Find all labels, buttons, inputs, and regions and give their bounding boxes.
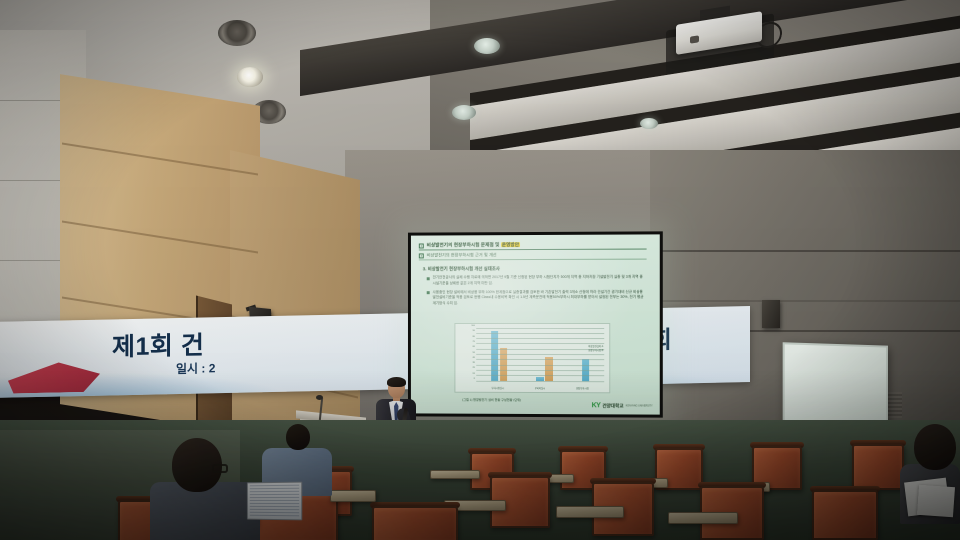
chart-gridline <box>476 338 604 339</box>
chart-x-labels: 부하시험실시부하미실시현장부하시험 <box>476 386 604 390</box>
chart-y-tick: 70 <box>472 341 474 343</box>
table-row[interactable] <box>812 490 878 540</box>
laptop-content <box>250 485 299 518</box>
chart-bar-group <box>491 328 507 381</box>
logo-name: 건양대학교 <box>602 403 623 409</box>
presenter-hair <box>387 377 406 387</box>
chart-y-tick: 90 <box>472 330 474 332</box>
table-row[interactable] <box>852 444 904 490</box>
chart-x-tick: 부하시험실시 <box>491 386 504 390</box>
lecture-hall-scene: 제1회 건 발표회 일시 : 2 미나 비상발전기의 현장부하시험 문제점 및 … <box>0 0 960 540</box>
chart-y-tick: 0 <box>474 378 475 380</box>
chart-y-tick: 50 <box>472 351 474 353</box>
chart-plot-area: 0102030405060708090100 <box>476 328 604 381</box>
wall-seam <box>650 250 960 252</box>
seat-back <box>852 444 904 490</box>
wall-seam <box>650 300 960 302</box>
handout-paper[interactable] <box>917 485 955 517</box>
ceiling-downlight <box>237 67 263 87</box>
chart-y-tick: 40 <box>472 357 474 359</box>
seat-back <box>812 490 878 540</box>
desk-tablet <box>668 512 738 524</box>
chart-legend-item: 현장부하시험 B <box>588 350 603 354</box>
slide-section-title: 3. 비상발전기 현장부하시험 개선 실태조사 <box>423 266 500 272</box>
list-item: 사용중인 현장 설비에서 비상용 부하 100% 한계점으로 실증결과를 검토한… <box>427 289 645 306</box>
desk-tablet <box>330 490 376 502</box>
projection-screen: 비상발전기의 현장부하시험 문제점 및 운영방안 비상발전기의 현장부하시험 근… <box>408 231 663 417</box>
chart-y-tick: 10 <box>472 373 474 375</box>
bullet-square-icon <box>419 243 424 248</box>
bullet-dot-icon <box>427 291 430 294</box>
slide-bar-chart: 0102030405060708090100 부하시험실시부하미실시현장부하시험… <box>454 323 610 393</box>
chart-gridline <box>476 327 604 328</box>
chart-legend: 비상발전설비 A현장부하시험 B <box>588 346 603 354</box>
attendee-head <box>286 424 310 450</box>
bullet-text: 사용중인 현장 설비에서 비상용 부하 100% 한계점으로 실증결과를 검토한… <box>433 289 645 306</box>
slide-header: 비상발전기의 현장부하시험 문제점 및 운영방안 비상발전기의 현장부하시험 근… <box>419 241 647 262</box>
logo-mark: KY <box>592 402 601 409</box>
desk-tablet <box>430 470 480 479</box>
chart-bars <box>476 328 604 381</box>
list-item: 전기안전공사의 실제 수행 자료에 의하면 2017년 9월 기준 신청된 현장… <box>427 275 645 287</box>
chart-gridline <box>476 333 604 334</box>
bullet-square-icon <box>419 253 424 258</box>
ceiling-downlight <box>640 118 658 129</box>
chart-x-tick: 부하미실시 <box>535 386 546 390</box>
table-row[interactable] <box>372 506 458 540</box>
chart-bar <box>491 331 498 381</box>
banner-title-left: 제1회 건 <box>112 325 204 363</box>
slide-header-main: 비상발전기의 현장부하시험 문제점 및 운영방안 <box>427 242 520 248</box>
seat-back <box>372 506 458 540</box>
microphone-icon <box>316 395 323 400</box>
university-logo: KY 건양대학교 KONYANG UNIVERSITY <box>592 402 653 409</box>
laptop-screen[interactable] <box>247 482 302 521</box>
wall-speaker-right <box>762 300 780 328</box>
chart-y-tick: 100 <box>471 325 474 327</box>
slide-header-sub: 비상발전기의 현장부하시험 근거 및 개선 <box>427 252 497 258</box>
logo-subtitle: KONYANG UNIVERSITY <box>626 404 653 407</box>
desk-tablet <box>556 506 624 518</box>
air-vent-icon <box>218 20 256 46</box>
chart-x-tick: 현장부하시험 <box>576 386 589 390</box>
attendee-head <box>914 424 956 470</box>
bullet-dot-icon <box>427 277 430 280</box>
ceiling-downlight <box>474 38 500 54</box>
chart-y-tick: 20 <box>472 367 474 369</box>
chart-y-tick: 60 <box>472 346 474 348</box>
banner-subtitle-left: 일시 : 2 <box>176 359 215 377</box>
chart-y-tick: 80 <box>472 336 474 338</box>
bullet-text: 전기안전공사의 실제 수행 자료에 의하면 2017년 9월 기준 신청된 현장… <box>433 275 645 287</box>
chart-gridline <box>476 380 604 381</box>
chart-y-tick: 30 <box>472 362 474 364</box>
figure-caption: [그림 1] 현장발전기 설비 현황 구성현황 (단위) <box>462 397 521 402</box>
slide-header-main-row: 비상발전기의 현장부하시험 문제점 및 운영방안 <box>419 241 647 250</box>
presentation-slide: 비상발전기의 현장부하시험 문제점 및 운영방안 비상발전기의 현장부하시험 근… <box>411 234 660 414</box>
slide-header-sub-row: 비상발전기의 현장부하시험 근거 및 개선 <box>419 252 647 261</box>
slide-bullet-list: 전기안전공사의 실제 수행 자료에 의하면 2017년 9월 기준 신청된 현장… <box>427 275 645 310</box>
highlight-text: 운영방안 <box>501 242 520 247</box>
ceiling-downlight <box>452 105 476 120</box>
list-item <box>150 438 260 540</box>
glasses-icon <box>212 464 228 473</box>
